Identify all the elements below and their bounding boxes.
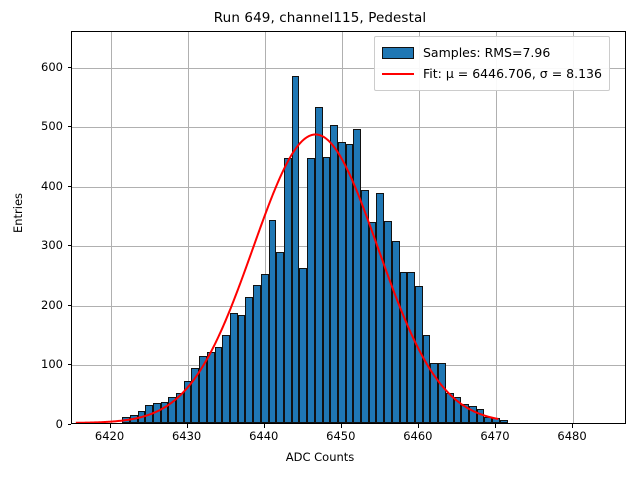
histogram-bar bbox=[369, 222, 377, 423]
legend-entry-samples: Samples: RMS=7.96 bbox=[382, 42, 602, 63]
legend-patch-swatch-icon bbox=[382, 47, 414, 59]
histogram-bar bbox=[492, 418, 500, 423]
histogram-bar bbox=[153, 403, 161, 423]
histogram-bar bbox=[484, 417, 492, 423]
histogram-bar bbox=[315, 107, 323, 423]
y-axis-label: Entries bbox=[11, 133, 25, 293]
histogram-bar bbox=[215, 347, 223, 423]
histogram-bar bbox=[238, 315, 246, 423]
y-tick-mark bbox=[68, 424, 72, 425]
y-tick-label: 300 bbox=[41, 238, 63, 252]
y-tick-mark bbox=[68, 186, 72, 187]
histogram-bar bbox=[361, 190, 369, 423]
histogram-bar bbox=[400, 272, 408, 423]
gridline-vertical bbox=[111, 32, 112, 423]
y-tick-label: 200 bbox=[41, 298, 63, 312]
histogram-bar bbox=[338, 142, 346, 423]
y-tick-mark bbox=[68, 364, 72, 365]
x-tick-label: 6440 bbox=[249, 429, 278, 443]
y-tick-label: 100 bbox=[41, 357, 63, 371]
histogram-bar bbox=[284, 158, 292, 423]
histogram-bar bbox=[276, 252, 284, 423]
histogram-bar bbox=[384, 221, 392, 423]
histogram-bar bbox=[346, 144, 354, 423]
x-tick-label: 6450 bbox=[326, 429, 355, 443]
chart-title: Run 649, channel115, Pedestal bbox=[0, 10, 640, 26]
histogram-bar bbox=[130, 415, 138, 423]
y-tick-mark bbox=[68, 126, 72, 127]
x-tick-label: 6460 bbox=[403, 429, 432, 443]
histogram-bar bbox=[176, 393, 184, 423]
histogram-bar bbox=[191, 368, 199, 423]
histogram-bar bbox=[207, 352, 215, 423]
histogram-bar bbox=[438, 363, 446, 423]
histogram-bar bbox=[423, 335, 431, 423]
histogram-bar bbox=[122, 417, 130, 423]
histogram-bar bbox=[299, 268, 307, 423]
histogram-bar bbox=[469, 406, 477, 423]
legend-label-fit: Fit: μ = 6446.706, σ = 8.136 bbox=[423, 66, 602, 81]
histogram-bar bbox=[161, 402, 169, 423]
gridline-horizontal bbox=[72, 127, 625, 128]
histogram-bar bbox=[269, 220, 277, 423]
histogram-bar bbox=[184, 381, 192, 423]
x-tick-mark bbox=[187, 424, 188, 428]
histogram-bar bbox=[168, 397, 176, 423]
x-tick-label: 6420 bbox=[95, 429, 124, 443]
histogram-bar bbox=[261, 274, 269, 423]
histogram-bar bbox=[430, 363, 438, 423]
y-tick-label: 500 bbox=[41, 119, 63, 133]
y-tick-label: 400 bbox=[41, 179, 63, 193]
histogram-bar bbox=[323, 157, 331, 423]
histogram-bar bbox=[376, 193, 384, 423]
histogram-bar bbox=[392, 241, 400, 423]
histogram-bar bbox=[407, 272, 415, 423]
histogram-bar bbox=[253, 285, 261, 423]
y-tick-mark bbox=[68, 67, 72, 68]
histogram-bar bbox=[500, 420, 508, 423]
histogram-bar bbox=[307, 158, 315, 423]
y-tick-label: 0 bbox=[56, 417, 63, 431]
x-axis-label: ADC Counts bbox=[0, 450, 640, 464]
y-tick-label: 600 bbox=[41, 60, 63, 74]
x-tick-mark bbox=[572, 424, 573, 428]
legend-line-swatch-icon bbox=[382, 68, 414, 80]
x-tick-label: 6480 bbox=[557, 429, 586, 443]
histogram-bar bbox=[477, 409, 485, 423]
histogram-bar bbox=[199, 356, 207, 423]
histogram-bar bbox=[353, 129, 361, 423]
histogram-bar bbox=[138, 411, 146, 423]
histogram-bar bbox=[230, 313, 238, 423]
histogram-bar bbox=[330, 125, 338, 423]
chart-legend[interactable]: Samples: RMS=7.96 Fit: μ = 6446.706, σ =… bbox=[374, 36, 610, 91]
x-tick-label: 6430 bbox=[172, 429, 201, 443]
histogram-bar bbox=[415, 286, 423, 423]
x-tick-mark bbox=[495, 424, 496, 428]
histogram-bar bbox=[245, 297, 253, 423]
histogram-figure: Run 649, channel115, Pedestal 6420643064… bbox=[0, 0, 640, 480]
x-tick-mark bbox=[418, 424, 419, 428]
x-tick-mark bbox=[264, 424, 265, 428]
histogram-bar bbox=[145, 405, 153, 423]
y-tick-mark bbox=[68, 305, 72, 306]
histogram-bar bbox=[222, 335, 230, 423]
gridline-vertical bbox=[188, 32, 189, 423]
x-tick-mark bbox=[110, 424, 111, 428]
histogram-bar bbox=[292, 76, 300, 423]
histogram-bar bbox=[446, 393, 454, 423]
histogram-bar bbox=[454, 397, 462, 423]
legend-entry-fit: Fit: μ = 6446.706, σ = 8.136 bbox=[382, 63, 602, 84]
legend-label-samples: Samples: RMS=7.96 bbox=[423, 45, 550, 60]
histogram-bar bbox=[461, 404, 469, 423]
y-tick-mark bbox=[68, 245, 72, 246]
x-tick-label: 6470 bbox=[480, 429, 509, 443]
x-tick-mark bbox=[341, 424, 342, 428]
